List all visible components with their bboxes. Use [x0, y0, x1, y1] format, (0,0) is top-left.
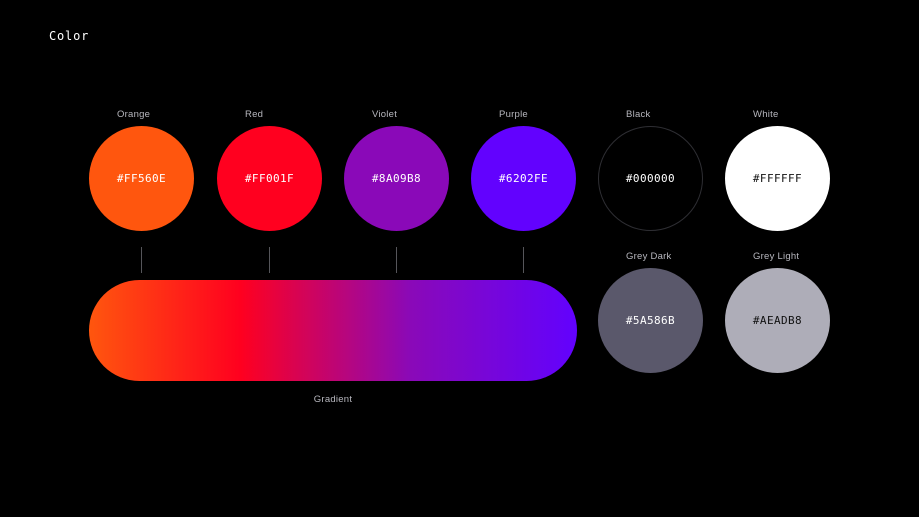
swatch-circle: #FFFFFF [725, 126, 830, 231]
swatch-circle: #5A586B [598, 268, 703, 373]
swatch-label: Black [626, 109, 650, 120]
swatch-circle: #FF001F [217, 126, 322, 231]
swatch-connector-line [523, 247, 524, 273]
swatch-circle: #8A09B8 [344, 126, 449, 231]
swatch-connector-line [141, 247, 142, 273]
swatch-hex-value: #FFFFFF [753, 172, 802, 185]
swatch-label: Red [245, 109, 263, 120]
swatch-label: Violet [372, 109, 397, 120]
swatch-hex-value: #000000 [626, 172, 675, 185]
swatch-connector-line [396, 247, 397, 273]
swatch-circle: #FF560E [89, 126, 194, 231]
gradient-label: Gradient [89, 394, 577, 405]
page-title: Color [49, 29, 89, 43]
color-palette-page: Color Orange#FF560ERed#FF001FViolet#8A09… [0, 0, 919, 517]
swatch-label: Grey Dark [626, 251, 672, 262]
swatch-label: Purple [499, 109, 528, 120]
swatch-circle: #6202FE [471, 126, 576, 231]
swatch-hex-value: #6202FE [499, 172, 548, 185]
swatch-circle: #AEADB8 [725, 268, 830, 373]
swatch-label: Orange [117, 109, 150, 120]
swatch-hex-value: #AEADB8 [753, 314, 802, 327]
swatch-circle: #000000 [598, 126, 703, 231]
swatch-hex-value: #8A09B8 [372, 172, 421, 185]
gradient-swatch [89, 280, 577, 381]
swatch-hex-value: #FF560E [117, 172, 166, 185]
swatch-hex-value: #FF001F [245, 172, 294, 185]
swatch-label: White [753, 109, 779, 120]
swatch-connector-line [269, 247, 270, 273]
swatch-hex-value: #5A586B [626, 314, 675, 327]
swatch-label: Grey Light [753, 251, 799, 262]
